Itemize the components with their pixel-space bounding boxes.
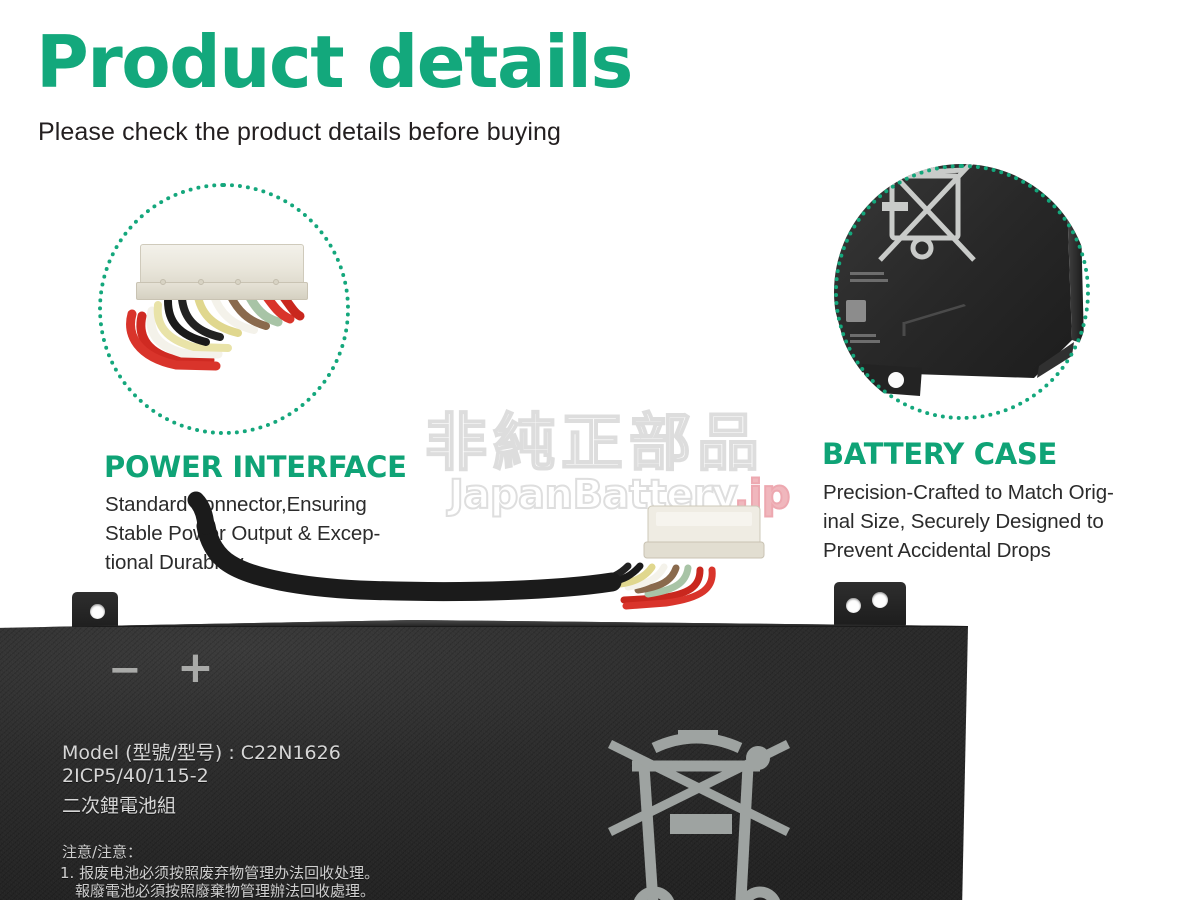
battery-model-line: Model (型號/型号) : C22N1626 — [62, 738, 341, 765]
battery-case-circle-frame — [834, 164, 1090, 420]
recycling-symbol — [592, 722, 802, 900]
watermark-cjk: 非純正部品 — [425, 392, 765, 482]
battery-mount-hole — [872, 592, 888, 608]
polarity-minus: − — [108, 650, 142, 690]
battery-mount-hole — [846, 598, 861, 613]
polarity-plus: + — [177, 646, 214, 690]
battery-cell-code-line: 2ICP5/40/115-2 — [62, 765, 209, 787]
battery-mount-hole — [90, 604, 105, 619]
battery-type-line: 二次鋰電池組 — [62, 791, 176, 818]
battery-notice-line: 報廢電池必須按照廢棄物管理辦法回收處理。 — [75, 880, 375, 900]
battery-case-title: BATTERY CASE — [822, 437, 1057, 471]
battery-notice-heading: 注意/注意： — [62, 841, 142, 862]
page-subtitle: Please check the product details before … — [38, 118, 561, 147]
page-title: Product details — [36, 26, 632, 98]
power-interface-title: POWER INTERFACE — [104, 450, 407, 484]
product-details-page: Product details Please check the product… — [0, 0, 1200, 900]
battery-mount-tab-right — [834, 582, 906, 626]
power-interface-circle-frame — [98, 183, 350, 435]
